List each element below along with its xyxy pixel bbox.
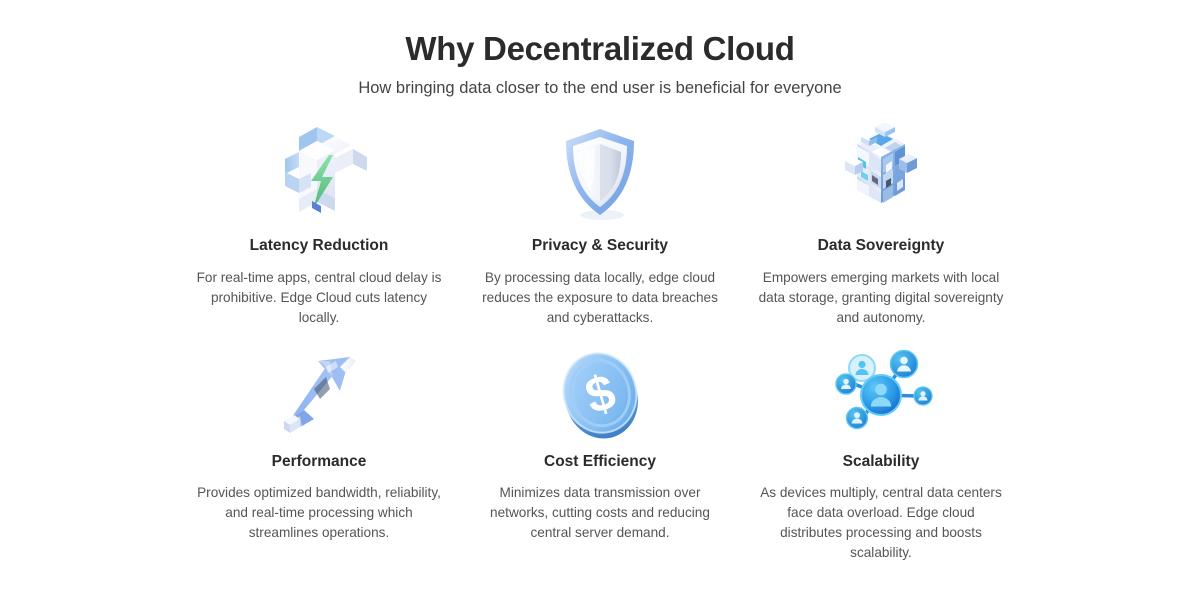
feature-description: Empowers emerging markets with local dat… bbox=[759, 268, 1004, 328]
feature-card-performance: Performance Provides optimized bandwidth… bbox=[179, 345, 460, 563]
feature-description: For real-time apps, central cloud delay … bbox=[197, 268, 442, 328]
feature-card-cost-efficiency: $ Cost Efficiency Minimizes data transmi… bbox=[460, 345, 741, 563]
feature-title: Cost Efficiency bbox=[544, 453, 656, 472]
feature-card-scalability: Scalability As devices multiply, central… bbox=[741, 345, 1022, 563]
feature-description: As devices multiply, central data center… bbox=[759, 483, 1004, 563]
feature-title: Privacy & Security bbox=[532, 237, 668, 256]
feature-card-latency-reduction: Latency Reduction For real-time apps, ce… bbox=[179, 121, 460, 328]
feature-card-privacy-security: Privacy & Security By processing data lo… bbox=[460, 121, 741, 328]
feature-grid: Latency Reduction For real-time apps, ce… bbox=[0, 121, 1200, 563]
up-arrow-icon bbox=[274, 345, 364, 441]
page-root: Why Decentralized Cloud How bringing dat… bbox=[0, 0, 1200, 600]
page-header: Why Decentralized Cloud How bringing dat… bbox=[0, 0, 1200, 99]
network-users-icon bbox=[826, 345, 936, 441]
dollar-coin-icon: $ bbox=[554, 345, 646, 441]
feature-description: Minimizes data transmission over network… bbox=[478, 483, 723, 543]
block-cube-icon bbox=[831, 121, 931, 225]
feature-title: Performance bbox=[272, 453, 367, 472]
page-title: Why Decentralized Cloud bbox=[0, 29, 1200, 69]
feature-title: Scalability bbox=[843, 453, 920, 472]
feature-card-data-sovereignty: Data Sovereignty Empowers emerging marke… bbox=[741, 121, 1022, 328]
page-subtitle: How bringing data closer to the end user… bbox=[0, 78, 1200, 99]
shield-icon bbox=[557, 121, 643, 225]
feature-title: Latency Reduction bbox=[250, 237, 389, 256]
lightning-cross-icon bbox=[271, 121, 367, 225]
feature-description: Provides optimized bandwidth, reliabilit… bbox=[197, 483, 442, 543]
feature-title: Data Sovereignty bbox=[818, 237, 945, 256]
feature-description: By processing data locally, edge cloud r… bbox=[478, 268, 723, 328]
